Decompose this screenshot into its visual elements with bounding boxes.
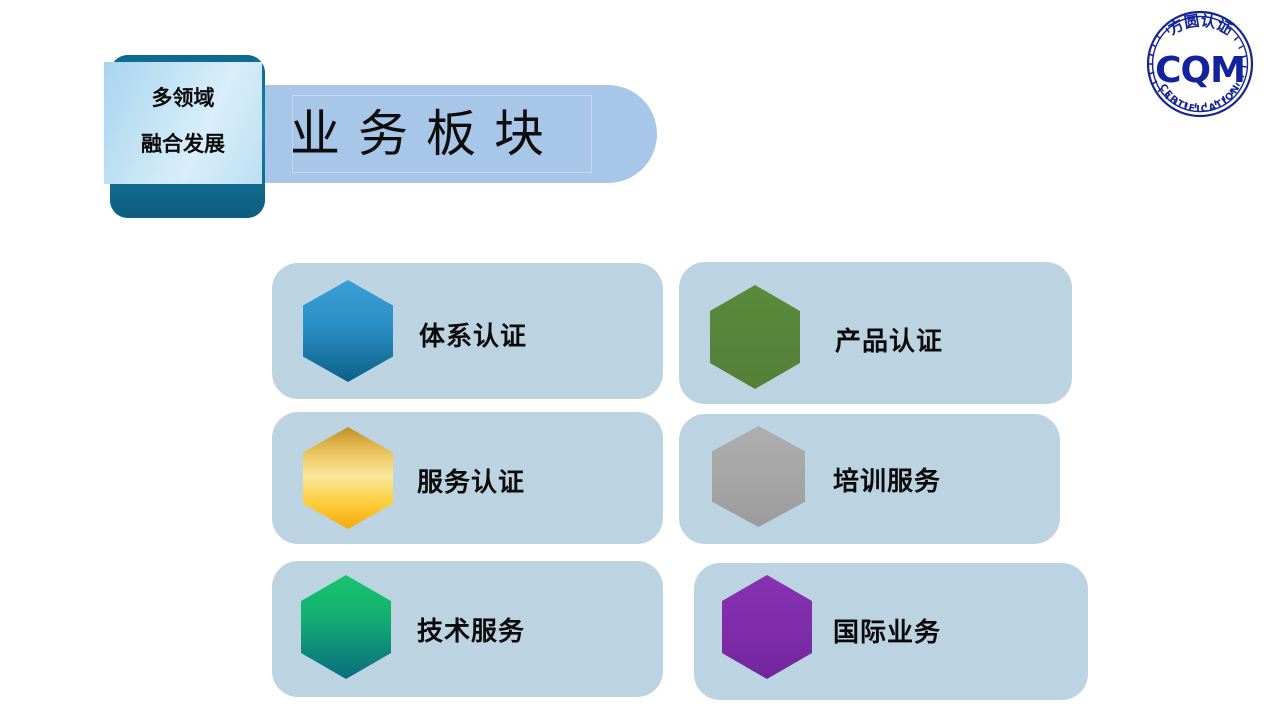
- side-tab: 多领域 融合发展: [104, 62, 262, 184]
- segment-card-label: 服务认证: [417, 462, 525, 499]
- segment-card-label: 产品认证: [835, 321, 943, 358]
- side-tab-line-1: 多领域: [104, 82, 262, 112]
- segment-card-label: 技术服务: [417, 611, 525, 648]
- side-tab-line-2: 融合发展: [104, 128, 262, 158]
- segment-card-label: 体系认证: [419, 316, 527, 353]
- slide-canvas: 业务板块 多领域 融合发展: [0, 0, 1280, 720]
- segment-card-label: 培训服务: [833, 461, 941, 498]
- segment-card-label: 国际业务: [833, 612, 941, 649]
